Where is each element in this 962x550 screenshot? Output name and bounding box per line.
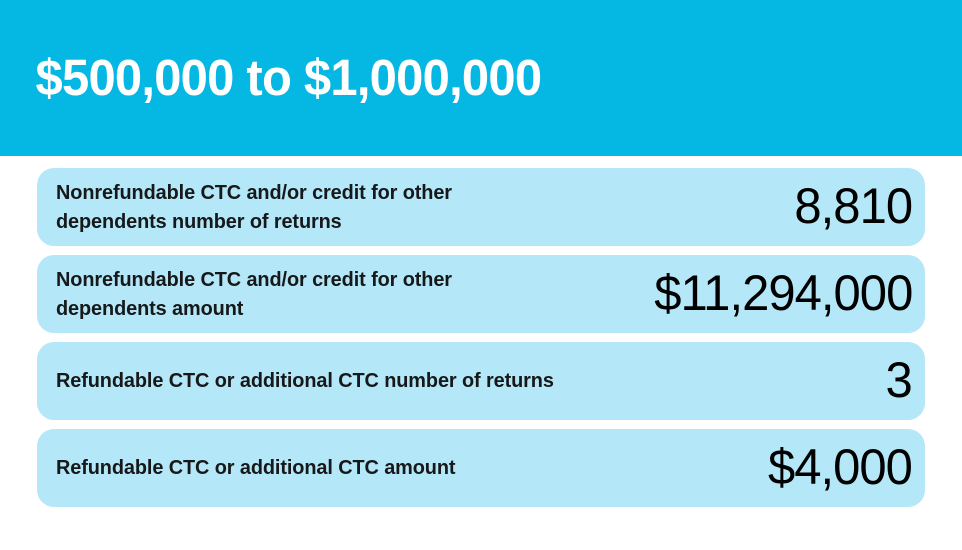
stat-label: Refundable CTC or additional CTC amount [56, 453, 455, 482]
stat-label: Refundable CTC or additional CTC number … [56, 366, 554, 395]
header-banner: $500,000 to $1,000,000 [0, 0, 962, 156]
table-row: Refundable CTC or additional CTC amount … [37, 429, 925, 507]
stat-value: 3 [886, 355, 912, 407]
stat-value: $4,000 [768, 442, 912, 494]
stat-label: Nonrefundable CTC and/or credit for othe… [56, 265, 560, 323]
table-row: Refundable CTC or additional CTC number … [37, 342, 925, 420]
table-row: Nonrefundable CTC and/or credit for othe… [37, 168, 925, 246]
page-title: $500,000 to $1,000,000 [0, 51, 541, 105]
table-row: Nonrefundable CTC and/or credit for othe… [37, 255, 925, 333]
stat-value: $11,294,000 [654, 268, 912, 320]
stat-row-list: Nonrefundable CTC and/or credit for othe… [37, 168, 925, 507]
stat-value: 8,810 [794, 181, 912, 233]
infographic-card: $500,000 to $1,000,000 Nonrefundable CTC… [0, 0, 962, 550]
stat-label: Nonrefundable CTC and/or credit for othe… [56, 178, 560, 236]
